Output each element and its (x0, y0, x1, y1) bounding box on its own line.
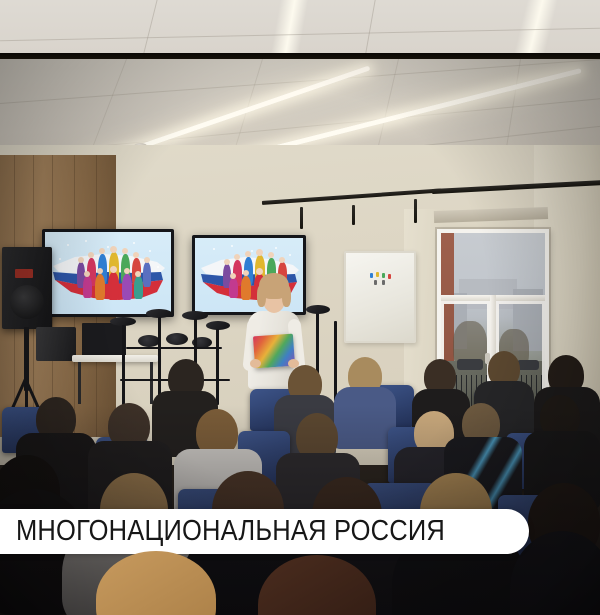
drum-pad-icon-2 (166, 333, 188, 345)
av-table (72, 355, 158, 362)
speaker-cone-icon (10, 285, 44, 319)
costume-figure (108, 272, 119, 300)
av-rack (82, 323, 126, 359)
whiteboard-magnet-icon-3 (382, 273, 385, 278)
presenter-hair-side (257, 285, 266, 307)
costume-figure (143, 262, 151, 287)
costume-figure (134, 276, 143, 299)
mic-stand-brace (126, 347, 222, 349)
presenter-hair-side-2 (282, 285, 291, 307)
speaker-badge (15, 269, 33, 278)
top-ceiling-strip (0, 0, 600, 53)
costume-figure (95, 274, 105, 300)
slide-left (45, 232, 171, 314)
whiteboard-magnet-icon (370, 273, 373, 278)
whiteboard (344, 251, 416, 343)
whiteboard-magnet-icon-5 (374, 280, 377, 285)
mic-stand (122, 325, 125, 405)
cymbal-pad-icon-5 (306, 305, 330, 314)
display-left-screen (45, 232, 171, 314)
costume-figure (83, 276, 92, 298)
whiteboard-magnet-icon-2 (376, 272, 379, 277)
mic-stand-4 (216, 329, 219, 405)
av-table-leg (78, 362, 81, 404)
caption-banner: МНОГОНАЦИОНАЛЬНАЯ РОССИЯ (0, 509, 529, 554)
display-left (42, 229, 174, 317)
screenshot-root: МНОГОНАЦИОНАЛЬНАЯ РОССИЯ (0, 0, 600, 615)
rail-bracket-2 (352, 205, 355, 225)
costume-figure (122, 274, 132, 300)
russia-map-tricolour-icon (45, 232, 171, 314)
drum-pad-icon (138, 335, 160, 347)
caption-label: МНОГОНАЦИОНАЛЬНАЯ РОССИЯ (16, 517, 445, 546)
whiteboard-magnet-icon-6 (382, 280, 385, 285)
presenter-hand-left (250, 359, 261, 368)
av-table-leg-2 (150, 362, 153, 404)
whiteboard-magnet-icon-4 (388, 274, 391, 279)
mic-stand-right-2 (334, 321, 337, 401)
amplifier (36, 327, 76, 361)
student-body (334, 387, 396, 449)
rail-bracket (300, 207, 303, 229)
pa-speaker (2, 247, 52, 329)
rail-bracket-3 (414, 199, 417, 223)
